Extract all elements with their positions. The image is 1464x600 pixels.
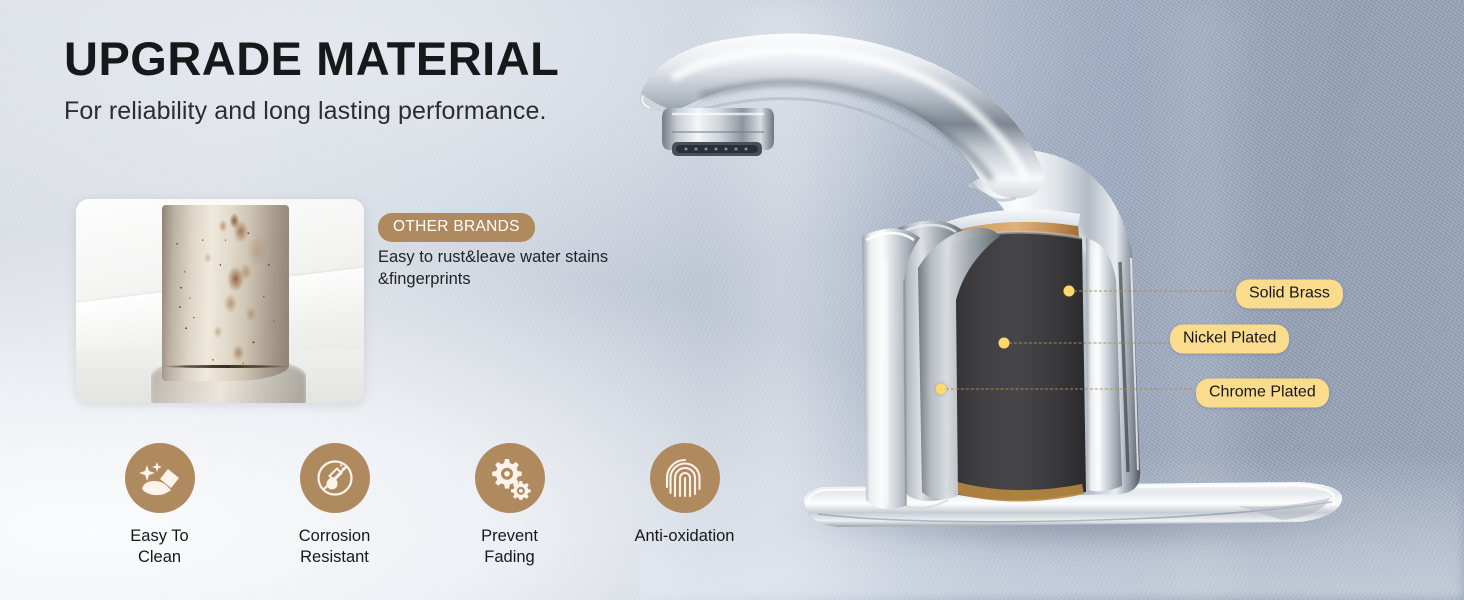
faucet-aerator: [662, 108, 774, 156]
feature-item-anti-oxidation[interactable]: Anti-oxidation: [597, 443, 772, 569]
headline-block: UPGRADE MATERIAL For reliability and lon…: [64, 34, 559, 126]
feature-item-prevent-fading[interactable]: Prevent Fading: [422, 443, 597, 569]
rusty-faucet-photo: [76, 199, 364, 403]
faucet-cutaway-layers: [862, 210, 1086, 509]
photo-rusty-cylinder: [162, 205, 289, 380]
feature-item-corrosion-resistant[interactable]: Corrosion Resistant: [247, 443, 422, 569]
feature-list: Easy To Clean Corrosion Resistant: [72, 443, 772, 569]
feature-label: Anti-oxidation: [635, 526, 735, 547]
feature-circle-corrosion-resistant: [300, 443, 370, 513]
feature-label: Prevent Fading: [481, 526, 538, 569]
feature-label: Corrosion Resistant: [299, 526, 371, 569]
fingerprint-icon: [663, 456, 707, 500]
feature-circle-prevent-fading: [475, 443, 545, 513]
feature-item-easy-to-clean[interactable]: Easy To Clean: [72, 443, 247, 569]
feature-circle-anti-oxidation: [650, 443, 720, 513]
gears-icon: [488, 456, 532, 500]
other-brands-badge: OTHER BRANDS: [378, 213, 535, 242]
feature-circle-easy-to-clean: [125, 443, 195, 513]
other-brands-description: Easy to rust&leave water stains &fingerp…: [378, 246, 638, 290]
callout-label-chrome-plated[interactable]: Chrome Plated: [1196, 379, 1329, 408]
no-corrosion-flask-icon: [313, 456, 357, 500]
page-subtitle: For reliability and long lasting perform…: [64, 97, 559, 126]
page-title: UPGRADE MATERIAL: [64, 34, 559, 83]
callout-label-solid-brass[interactable]: Solid Brass: [1236, 280, 1343, 309]
callout-label-nickel-plated[interactable]: Nickel Plated: [1170, 325, 1289, 354]
photo-rust-specks: [162, 205, 289, 380]
feature-label: Easy To Clean: [130, 526, 188, 569]
sparkle-cleaning-cloth-icon: [138, 456, 182, 500]
